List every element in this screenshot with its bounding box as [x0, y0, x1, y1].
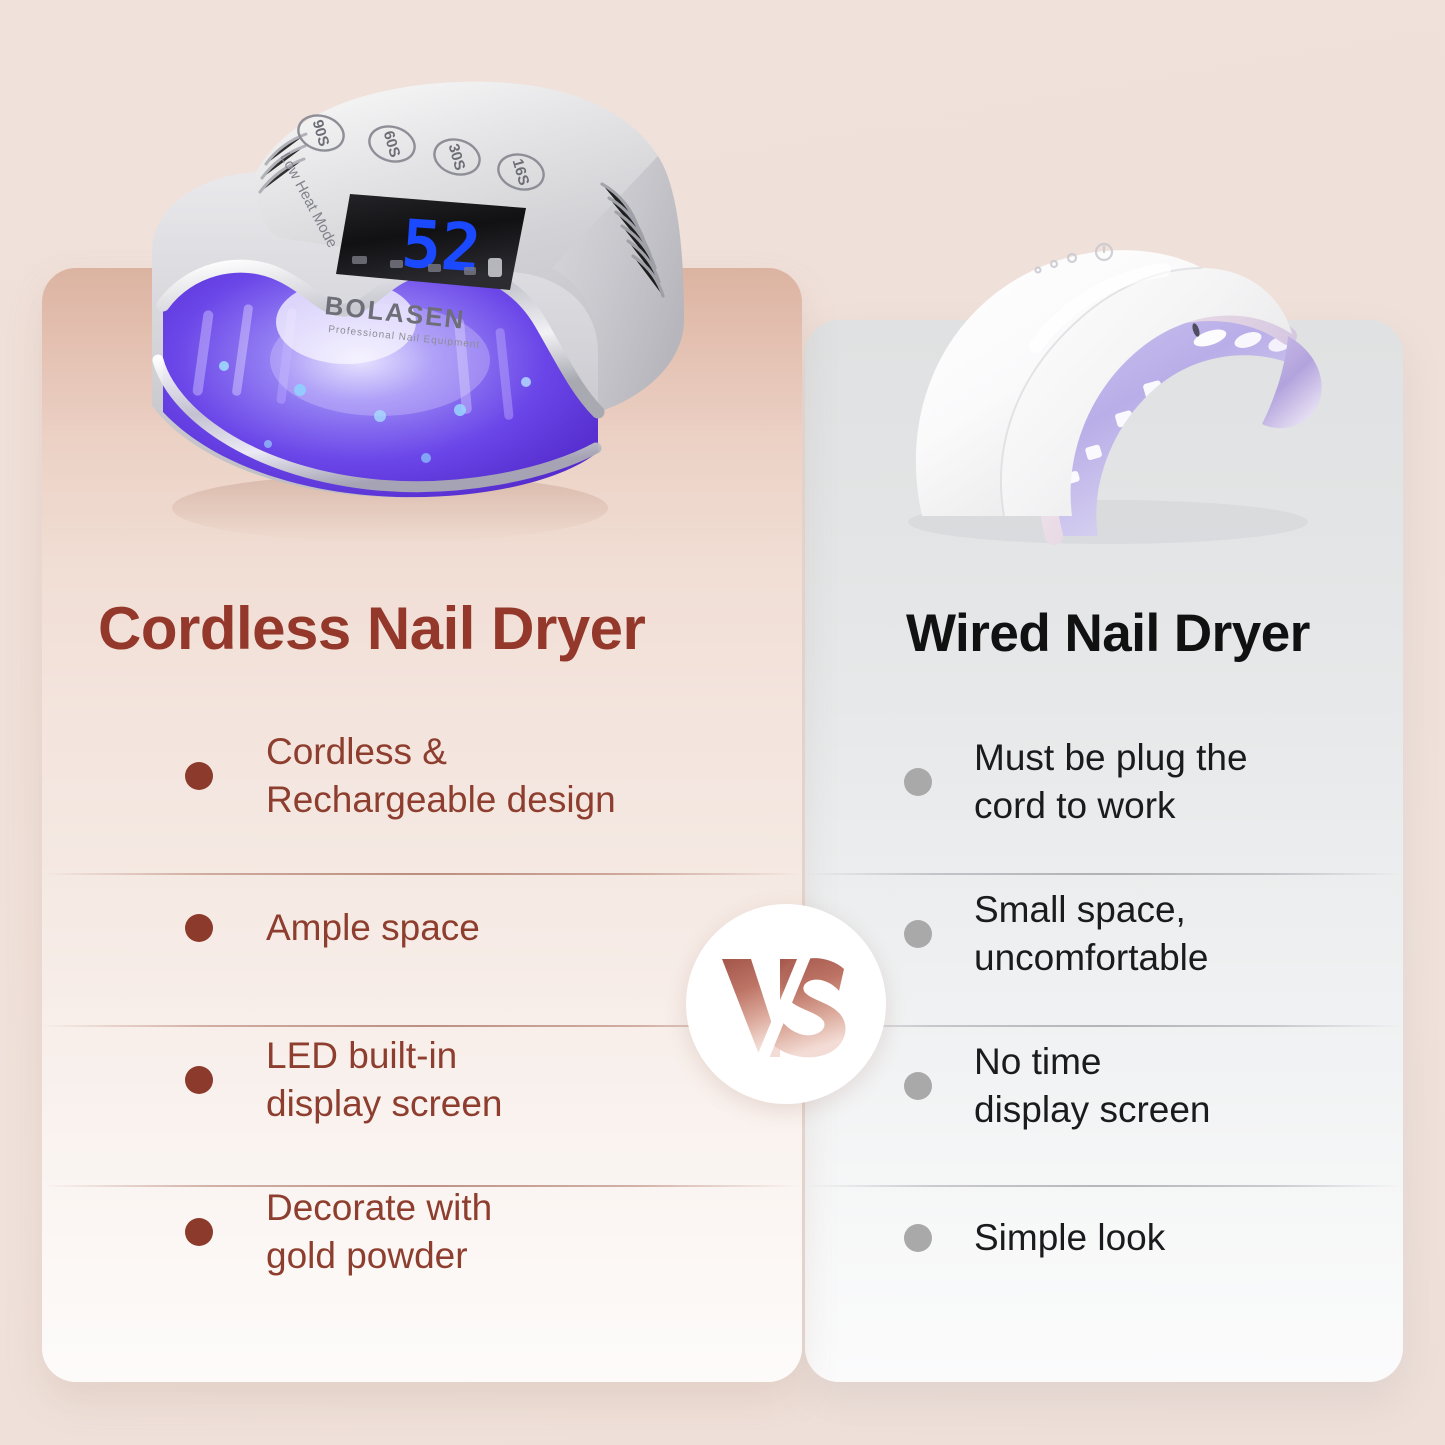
timer-display-value: 52	[399, 205, 484, 287]
vs-letters-icon	[720, 945, 852, 1063]
bullet-icon	[185, 762, 213, 790]
wired-feature-list: Must be plug thecord to work Small space…	[805, 706, 1403, 1314]
bullet-icon	[185, 914, 213, 942]
feature-label: Must be plug thecord to work	[974, 734, 1248, 830]
cordless-heading: Cordless Nail Dryer	[98, 594, 645, 663]
list-item: Simple look	[805, 1162, 1403, 1314]
bullet-icon	[904, 1224, 932, 1252]
bullet-icon	[904, 920, 932, 948]
feature-label: No timedisplay screen	[974, 1038, 1211, 1134]
feature-label: Cordless &Rechargeable design	[266, 728, 616, 824]
wired-heading: Wired Nail Dryer	[906, 603, 1310, 664]
vs-badge	[686, 904, 886, 1104]
bullet-icon	[185, 1066, 213, 1094]
feature-label: LED built-indisplay screen	[266, 1032, 503, 1128]
feature-label: Ample space	[266, 904, 480, 952]
feature-label: Decorate withgold powder	[266, 1184, 492, 1280]
wired-nail-dryer-image	[858, 196, 1348, 546]
cordless-nail-dryer-image: 52 90S 60S 30S 16S Low Heat Mode BOLASEN…	[128, 60, 698, 550]
list-item: Small space,uncomfortable	[805, 858, 1403, 1010]
bullet-icon	[904, 768, 932, 796]
bullet-icon	[904, 1072, 932, 1100]
list-item: No timedisplay screen	[805, 1010, 1403, 1162]
list-item: Must be plug thecord to work	[805, 706, 1403, 858]
list-item: Cordless &Rechargeable design	[42, 700, 802, 852]
list-item: Decorate withgold powder	[42, 1156, 802, 1308]
bullet-icon	[185, 1218, 213, 1246]
feature-label: Small space,uncomfortable	[974, 886, 1208, 982]
feature-label: Simple look	[974, 1214, 1165, 1262]
